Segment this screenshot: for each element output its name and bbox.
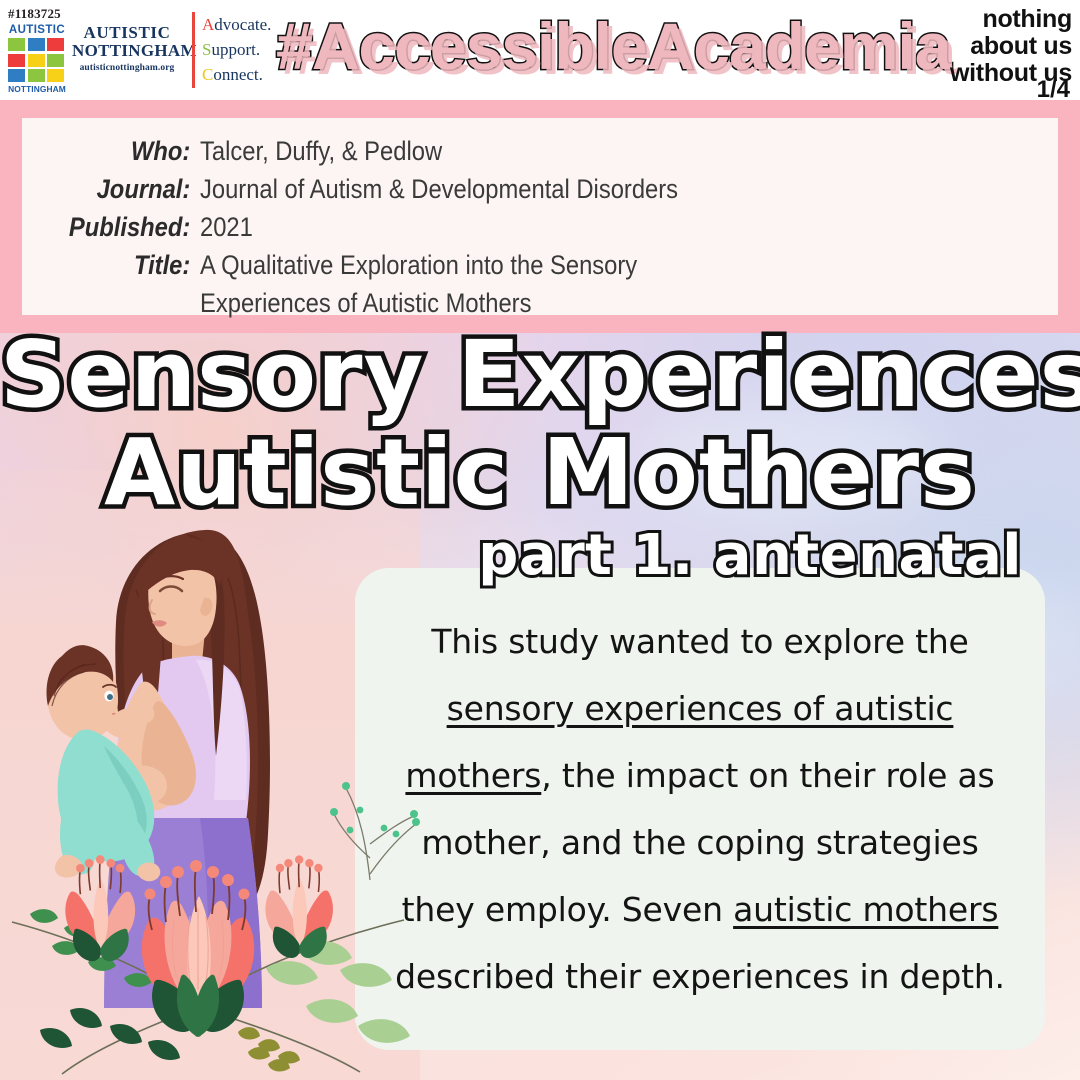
poster-canvas: #1183725 AUTISTIC NOTTINGHAM AUTISTIC NO… <box>0 0 1080 1080</box>
info-label: Who: <box>43 132 200 170</box>
info-label: Published: <box>43 208 200 246</box>
logo-square-6 <box>47 54 64 67</box>
info-label: Journal: <box>43 170 200 208</box>
tagline-line-2: about us <box>882 33 1072 60</box>
summary-segment: This study wanted to explore the <box>431 622 968 661</box>
values-list: Advocate.Support.Connect. <box>202 12 280 87</box>
info-row: Title:A Qualitative Exploration into the… <box>22 246 1058 322</box>
cloud-wisp <box>640 400 940 520</box>
summary-panel: This study wanted to explore the sensory… <box>355 568 1045 1050</box>
header-bar: #1183725 AUTISTIC NOTTINGHAM AUTISTIC NO… <box>0 0 1080 100</box>
info-value: 2021 <box>200 208 253 246</box>
logo-square-4 <box>8 54 25 67</box>
info-row: Who:Talcer, Duffy, & Pedlow <box>22 132 1058 170</box>
summary-text: This study wanted to explore the sensory… <box>389 608 1011 1010</box>
info-value: Talcer, Duffy, & Pedlow <box>200 132 442 170</box>
study-info-card: Who:Talcer, Duffy, & PedlowJournal:Journ… <box>22 118 1058 315</box>
info-value: A Qualitative Exploration into the Senso… <box>200 246 637 322</box>
logo-square-2 <box>28 38 45 51</box>
info-row: Journal:Journal of Autism & Developmenta… <box>22 170 1058 208</box>
logo-color-grid <box>8 38 68 82</box>
info-value: Journal of Autism & Developmental Disord… <box>200 170 678 208</box>
info-label: Title: <box>43 246 200 284</box>
value-item-3: Connect. <box>202 62 280 87</box>
poster-subtitle: part 1. antenatal <box>478 525 1022 587</box>
value-item-2: Support. <box>202 37 280 62</box>
summary-emphasis: autistic mothers <box>733 890 998 929</box>
autistic-nottingham-logo: AUTISTIC NOTTINGHAM <box>6 24 68 94</box>
logo-bottom-label: NOTTINGHAM <box>6 84 68 94</box>
page-indicator: 1/4 <box>1037 76 1070 104</box>
logo-square-1 <box>8 38 25 51</box>
value-item-1: Advocate. <box>202 12 280 37</box>
info-row: Published:2021 <box>22 208 1058 246</box>
mother-and-baby-illustration <box>0 470 430 1080</box>
brand-line-1: AUTISTIC <box>72 24 182 42</box>
summary-segment: described their experiences in depth. <box>395 957 1005 996</box>
logo-square-8 <box>28 69 45 82</box>
brand-line-2: NOTTINGHAM <box>72 42 182 60</box>
campaign-hashtag: #AccessibleAcademia <box>276 8 950 84</box>
post-id-number: #1183725 <box>8 6 61 22</box>
logo-square-7 <box>8 69 25 82</box>
logo-square-9 <box>47 69 64 82</box>
vertical-divider <box>192 12 195 88</box>
brand-wordmark: AUTISTIC NOTTINGHAM autisticnottingham.o… <box>72 24 182 73</box>
logo-square-5 <box>28 54 45 67</box>
logo-square-3 <box>47 38 64 51</box>
tagline-line-1: nothing <box>882 6 1072 33</box>
brand-website: autisticnottingham.org <box>72 63 182 73</box>
tagline: nothing about us without us <box>882 6 1072 87</box>
logo-top-label: AUTISTIC <box>6 24 68 36</box>
